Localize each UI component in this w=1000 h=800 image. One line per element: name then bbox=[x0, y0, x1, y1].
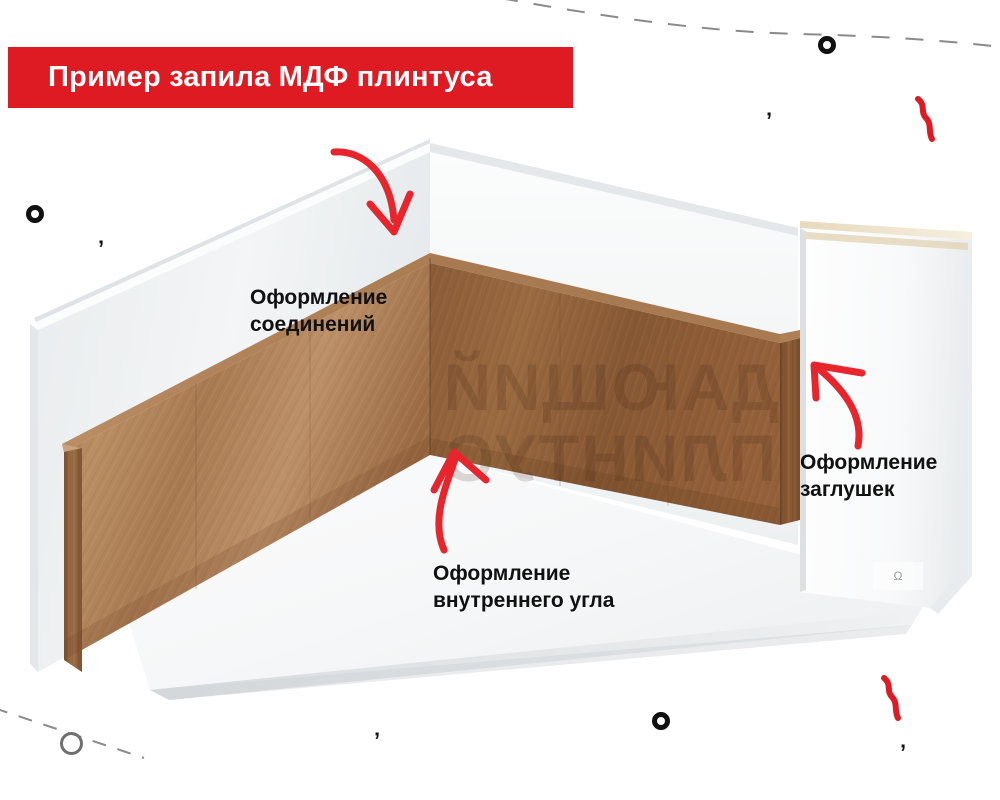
end-cap-panel bbox=[800, 221, 972, 614]
callout-joints-label: Оформление соединений bbox=[250, 285, 387, 339]
plinth-mockup-scene bbox=[0, 0, 1000, 800]
title-banner: Пример запила МДФ плинтуса bbox=[8, 47, 573, 108]
infographic-canvas: ’ ’ ’ ’ bbox=[0, 0, 1000, 800]
title-banner-text: Пример запила МДФ плинтуса bbox=[48, 61, 493, 94]
callout-end-caps-label: Оформление заглушек bbox=[800, 450, 937, 504]
callout-inner-corner-label: Оформление внутреннего угла bbox=[433, 561, 614, 615]
endcap-sticker: Ω bbox=[873, 562, 923, 590]
